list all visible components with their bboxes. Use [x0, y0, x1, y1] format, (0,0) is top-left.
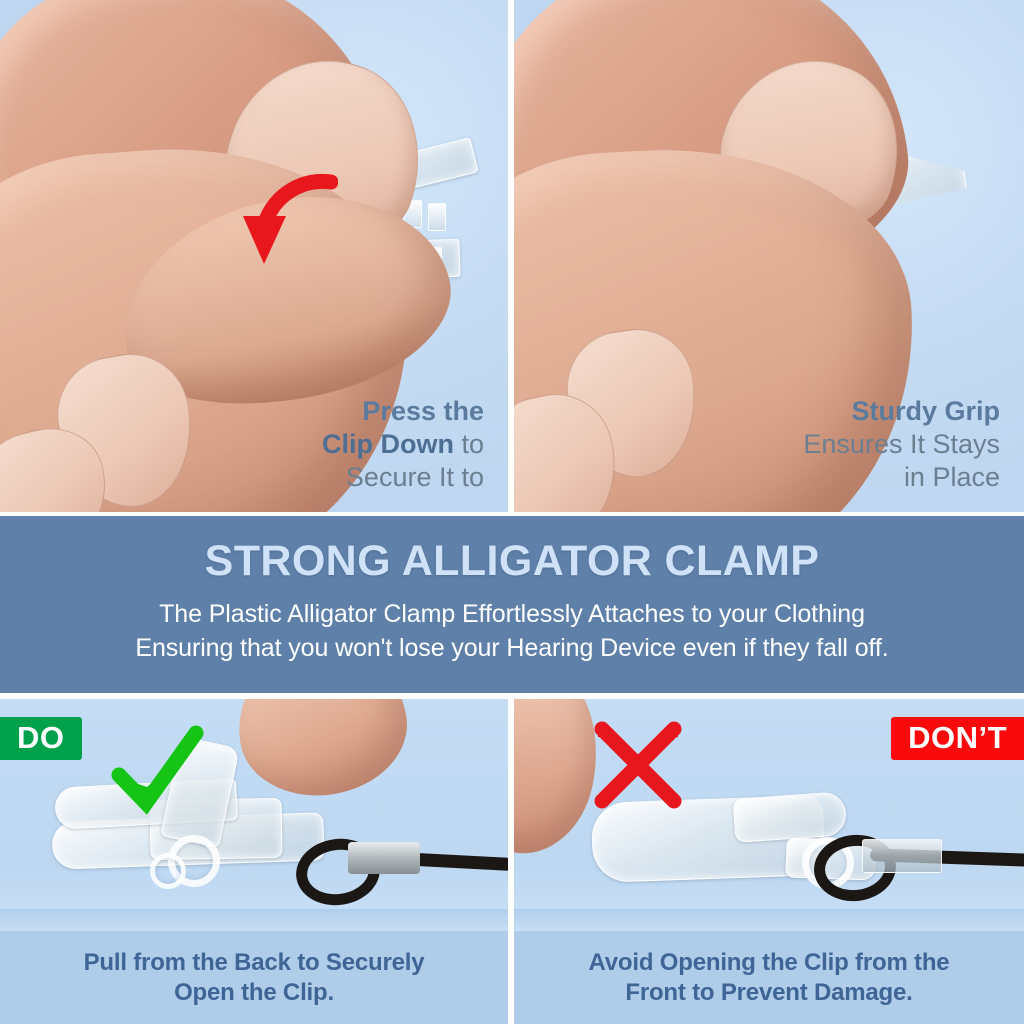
dont-badge: DON’T	[891, 717, 1024, 760]
divider-vertical-bottom	[508, 699, 514, 1024]
divider-horizontal-upper	[0, 512, 1024, 516]
table-surface	[514, 909, 1024, 931]
caption-press-clip-down: Press the Clip Down to Secure It to	[322, 395, 484, 494]
green-check-mark-icon	[110, 725, 206, 821]
caption-do: Pull from the Back to Securely Open the …	[70, 948, 439, 1008]
product-infographic: Press the Clip Down to Secure It to Stur…	[0, 0, 1024, 1024]
do-badge: DO	[0, 717, 82, 760]
divider-vertical-top	[508, 0, 514, 512]
red-x-mark-icon	[592, 721, 684, 813]
caption-do-line-1: Pull from the Back to Securely	[84, 949, 425, 976]
caption-dont: Avoid Opening the Clip from the Front to…	[575, 948, 964, 1008]
banner-title: STRONG ALLIGATOR CLAMP	[205, 540, 820, 583]
caption-dont-line-1: Avoid Opening the Clip from the	[589, 949, 950, 976]
caption-line-1: Press the	[322, 395, 484, 428]
caption-do-line-2: Open the Clip.	[174, 979, 334, 1006]
banner-body-line-2: Ensuring that you won't lose your Hearin…	[135, 632, 888, 665]
metal-ferrule	[348, 842, 420, 874]
panel-photo-area: DO	[0, 699, 508, 931]
caption-area-dont: Avoid Opening the Clip from the Front to…	[514, 931, 1024, 1024]
banner-strong-alligator-clamp: STRONG ALLIGATOR CLAMP The Plastic Allig…	[0, 516, 1024, 693]
caption-dont-line-2: Front to Prevent Damage.	[625, 979, 912, 1006]
table-surface	[0, 909, 508, 931]
caption-line-2: Ensures It Stays	[803, 429, 1000, 459]
caption-line-3: in Place	[904, 462, 1000, 492]
caption-sturdy-grip: Sturdy Grip Ensures It Stays in Place	[803, 395, 1000, 494]
panel-photo-area: DON’T	[514, 699, 1024, 931]
clamp-pivot-ring	[150, 853, 186, 889]
clamp-tooth	[428, 203, 446, 231]
caption-area-do: Pull from the Back to Securely Open the …	[0, 931, 508, 1024]
caption-line-2-light: to	[454, 429, 484, 459]
banner-body-line-1: The Plastic Alligator Clamp Effortlessly…	[159, 598, 865, 631]
caption-line-3: Secure It to	[346, 462, 484, 492]
fingertip	[227, 699, 416, 807]
panel-do-pull-from-back: DO Pull from the Back to Securely Open t…	[0, 699, 508, 1024]
red-curved-down-arrow-icon	[228, 170, 338, 280]
clamp-upper-jaw	[733, 791, 848, 843]
clear-ferrule	[862, 839, 942, 873]
caption-line-2-bold: Clip Down	[322, 429, 454, 459]
caption-line-1: Sturdy Grip	[803, 395, 1000, 428]
panel-press-clip-down: Press the Clip Down to Secure It to	[0, 0, 508, 512]
panel-sturdy-grip: Sturdy Grip Ensures It Stays in Place	[514, 0, 1024, 512]
panel-dont-open-from-front: DON’T Avoid Opening the Clip from the Fr…	[514, 699, 1024, 1024]
